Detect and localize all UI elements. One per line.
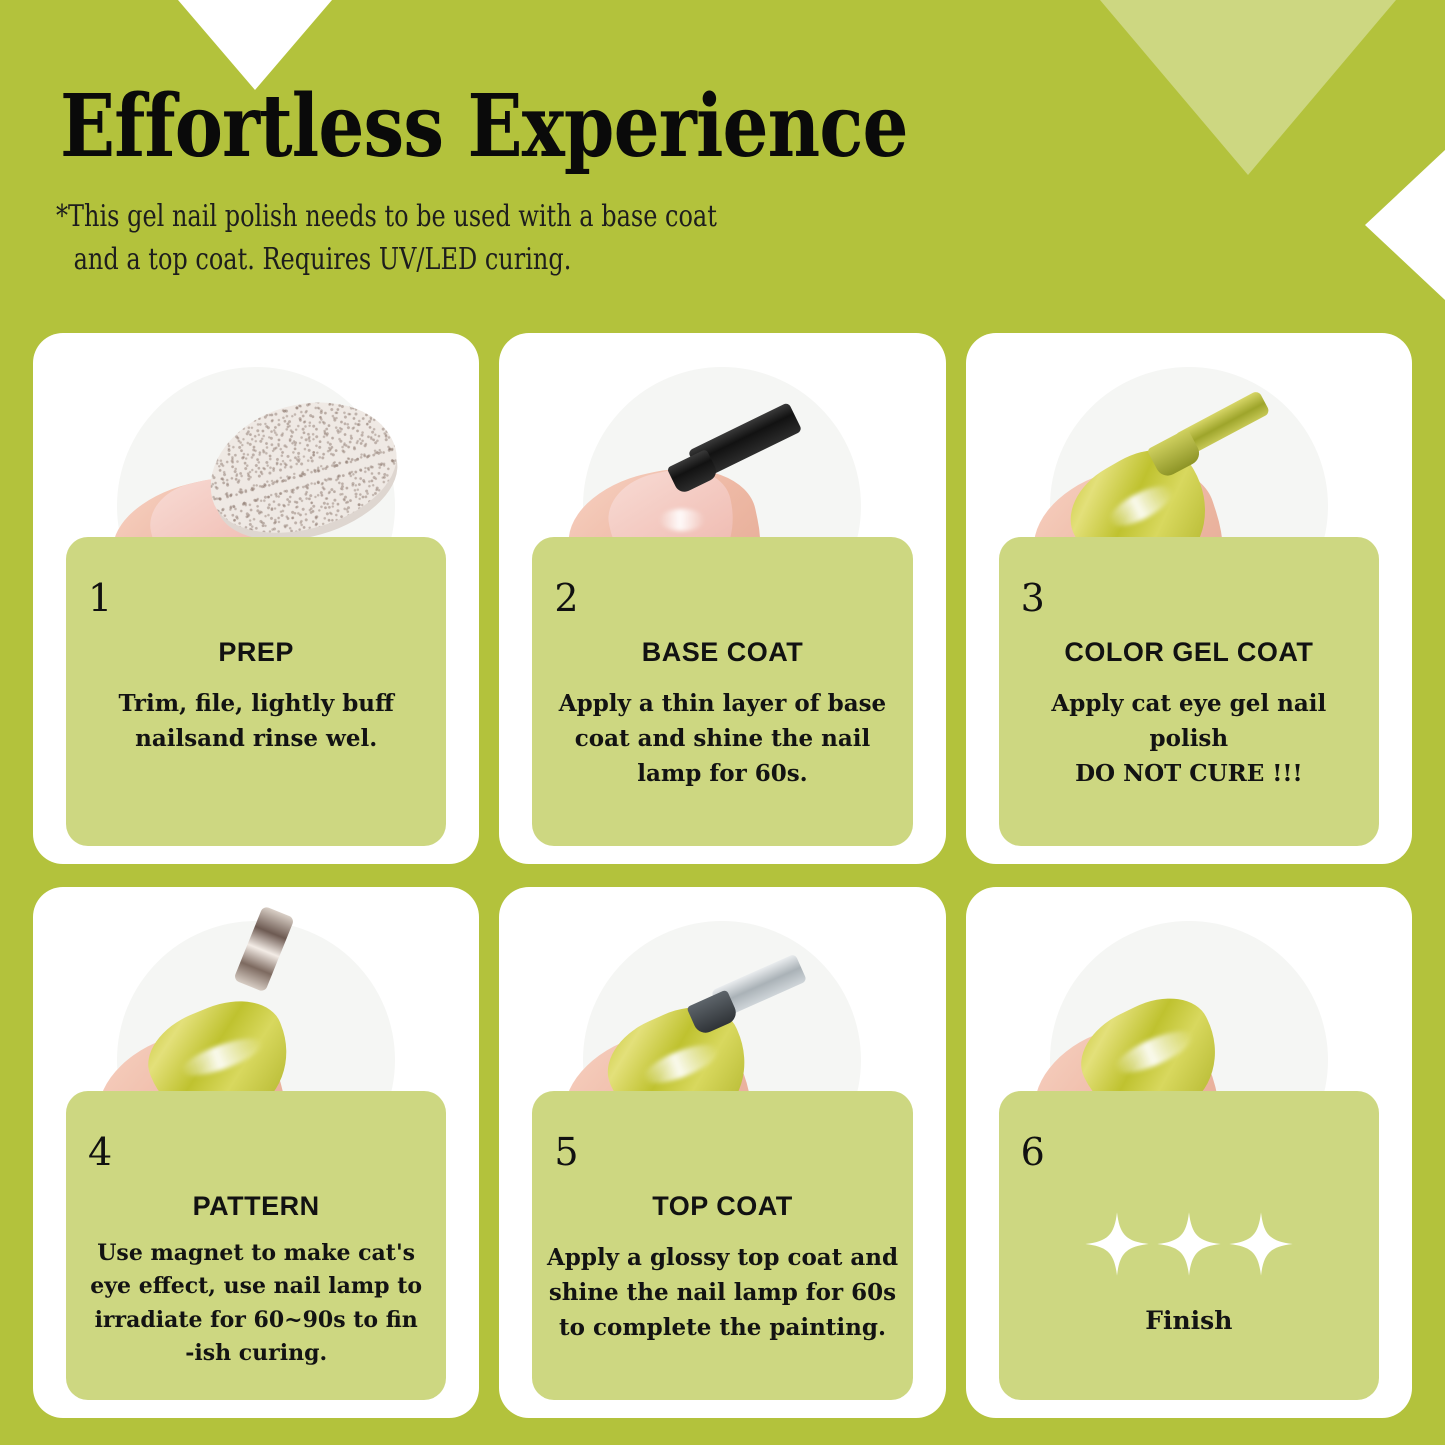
subtitle-line-2: and a top coat. Requires UV/LED curing. [56, 239, 717, 282]
subtitle-line-1: *This gel nail polish needs to be used w… [56, 199, 717, 234]
step-body-line: irradiate for 60~90s to fin [80, 1304, 432, 1337]
step-title-2: BASE COAT [532, 637, 912, 668]
finish-label: Finish [999, 1306, 1379, 1335]
step-card-5[interactable]: 5 TOP COAT Apply a glossy top coat and s… [499, 887, 945, 1418]
step-panel-4: 4 PATTERN Use magnet to make cat's eye e… [66, 1091, 446, 1400]
step-body-line: Apply cat eye gel nail polish [1013, 687, 1365, 757]
page-title: Effortless Experience [60, 84, 908, 170]
step-body-line: Apply a thin layer of base [546, 687, 898, 722]
white-arrow-notch-right-icon [1365, 150, 1445, 300]
sparkle-group [999, 1209, 1379, 1279]
step-panel-5: 5 TOP COAT Apply a glossy top coat and s… [532, 1091, 912, 1400]
step-card-2[interactable]: 2 BASE COAT Apply a thin layer of base c… [499, 333, 945, 864]
step-body-line: lamp for 60s. [546, 757, 898, 792]
page-subtitle: *This gel nail polish needs to be used w… [56, 196, 717, 281]
step-body-1: Trim, file, lightly buff nailsand rinse … [80, 687, 432, 757]
step-body-line: shine the nail lamp for 60s [546, 1276, 898, 1311]
step-card-4[interactable]: 4 PATTERN Use magnet to make cat's eye e… [33, 887, 479, 1418]
step-title-3: COLOR GEL COAT [999, 637, 1379, 668]
step-body-line: Apply a glossy top coat and [546, 1241, 898, 1276]
sparkle-star-icon [1156, 1211, 1222, 1277]
step-title-4: PATTERN [66, 1191, 446, 1222]
step-body-4: Use magnet to make cat's eye effect, use… [80, 1237, 432, 1371]
step-number-2: 2 [554, 579, 578, 617]
step-body-line: Trim, file, lightly buff [80, 687, 432, 722]
step-body-line: to complete the painting. [546, 1311, 898, 1346]
step-body-line: DO NOT CURE !!! [1013, 757, 1365, 792]
step-title-5: TOP COAT [532, 1191, 912, 1222]
magnet-bar-top-icon [233, 906, 294, 993]
step-card-1[interactable]: 1 PREP Trim, file, lightly buff nailsand… [33, 333, 479, 864]
step-card-3[interactable]: 3 COLOR GEL COAT Apply cat eye gel nail … [966, 333, 1412, 864]
steps-grid: 1 PREP Trim, file, lightly buff nailsand… [33, 333, 1412, 1418]
step-body-line: Use magnet to make cat's [80, 1237, 432, 1270]
step-card-6[interactable]: 6 Finish [966, 887, 1412, 1418]
step-body-5: Apply a glossy top coat and shine the na… [546, 1241, 898, 1346]
step-panel-1: 1 PREP Trim, file, lightly buff nailsand… [66, 537, 446, 846]
step-body-line: eye effect, use nail lamp to [80, 1270, 432, 1303]
sparkle-star-icon [1228, 1211, 1294, 1277]
step-number-5: 5 [554, 1133, 578, 1171]
step-number-1: 1 [88, 579, 112, 617]
step-number-4: 4 [88, 1133, 112, 1171]
step-number-6: 6 [1021, 1133, 1045, 1171]
step-panel-2: 2 BASE COAT Apply a thin layer of base c… [532, 537, 912, 846]
step-body-line: nailsand rinse wel. [80, 722, 432, 757]
step-body-2: Apply a thin layer of base coat and shin… [546, 687, 898, 792]
step-panel-6: 6 Finish [999, 1091, 1379, 1400]
light-green-triangle-icon [1100, 0, 1396, 175]
step-body-line: coat and shine the nail [546, 722, 898, 757]
step-title-1: PREP [66, 637, 446, 668]
step-body-line: -ish curing. [80, 1337, 432, 1370]
step-number-3: 3 [1021, 579, 1045, 617]
step-panel-3: 3 COLOR GEL COAT Apply cat eye gel nail … [999, 537, 1379, 846]
nail-highlight [659, 509, 705, 531]
sparkle-star-icon [1084, 1211, 1150, 1277]
step-body-3: Apply cat eye gel nail polish DO NOT CUR… [1013, 687, 1365, 792]
